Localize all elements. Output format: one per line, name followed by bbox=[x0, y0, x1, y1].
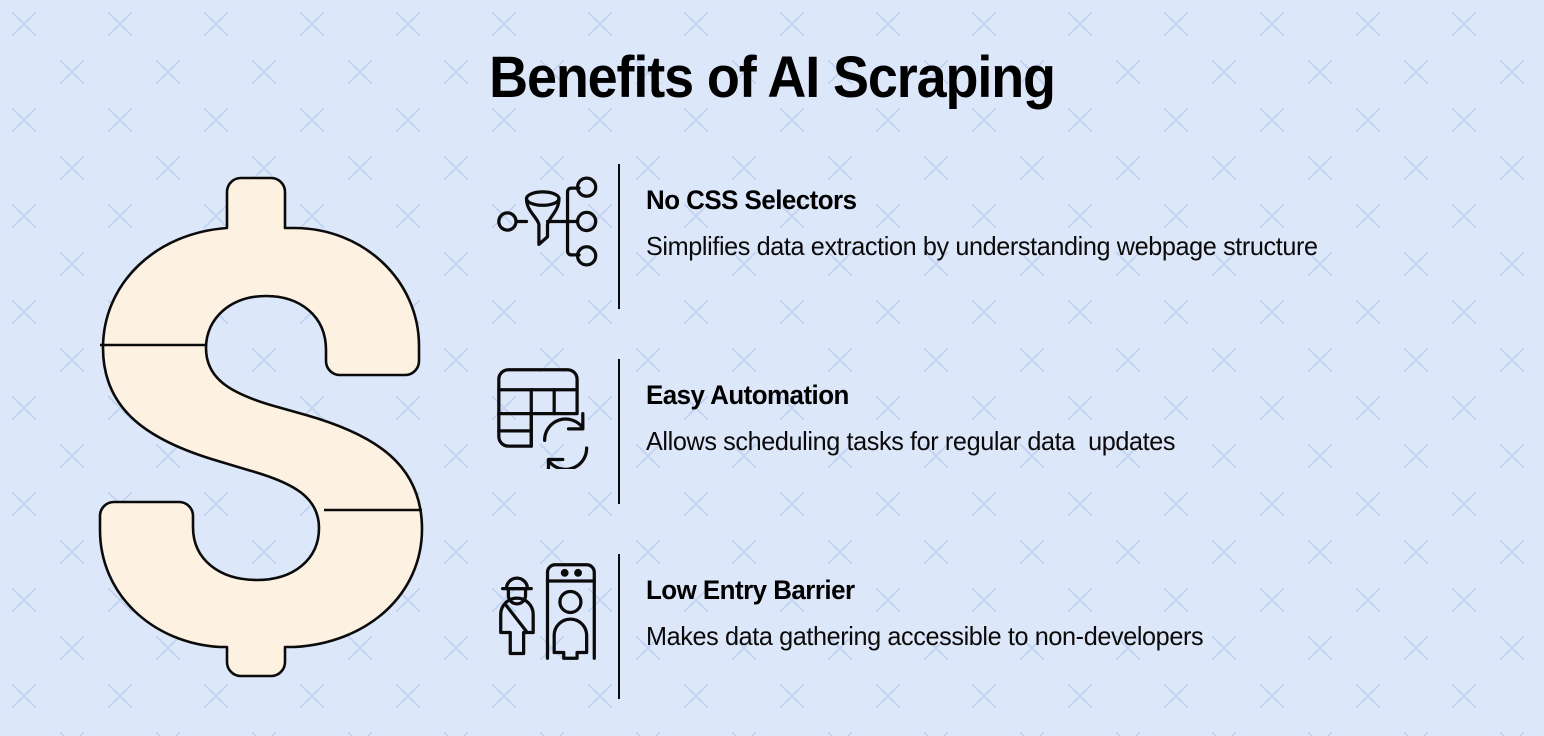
feature-title: No CSS Selectors bbox=[646, 184, 1458, 216]
feature-description: Makes data gathering accessible to non-d… bbox=[646, 620, 1467, 652]
dollar-sign-shape bbox=[100, 178, 422, 676]
feature-text-3: Low Entry Barrier Makes data gathering a… bbox=[646, 548, 1492, 652]
feature-title: Easy Automation bbox=[646, 379, 1458, 411]
feature-divider-2 bbox=[618, 359, 620, 504]
feature-divider-3 bbox=[618, 554, 620, 699]
dollar-sign-illustration bbox=[96, 150, 456, 700]
feature-item-low-entry-barrier: Low Entry Barrier Makes data gathering a… bbox=[492, 548, 1492, 698]
feature-title: Low Entry Barrier bbox=[646, 574, 1458, 606]
feature-item-easy-automation: Easy Automation Allows scheduling tasks … bbox=[492, 353, 1492, 503]
funnel-filter-nodes-icon bbox=[492, 166, 602, 276]
feature-description: Allows scheduling tasks for regular data… bbox=[646, 425, 1467, 457]
feature-divider-1 bbox=[618, 164, 620, 309]
feature-text-2: Easy Automation Allows scheduling tasks … bbox=[646, 353, 1492, 457]
feature-text-1: No CSS Selectors Simplifies data extract… bbox=[646, 158, 1492, 262]
table-refresh-icon bbox=[492, 361, 602, 471]
page-title: Benefits of AI Scraping bbox=[54, 46, 1490, 110]
feature-item-no-css-selectors: No CSS Selectors Simplifies data extract… bbox=[492, 158, 1492, 308]
infographic-canvas: Benefits of AI Scraping bbox=[0, 0, 1544, 736]
feature-description: Simplifies data extraction by understand… bbox=[646, 230, 1467, 262]
guard-security-gate-icon bbox=[492, 556, 602, 666]
feature-list: No CSS Selectors Simplifies data extract… bbox=[492, 150, 1492, 710]
